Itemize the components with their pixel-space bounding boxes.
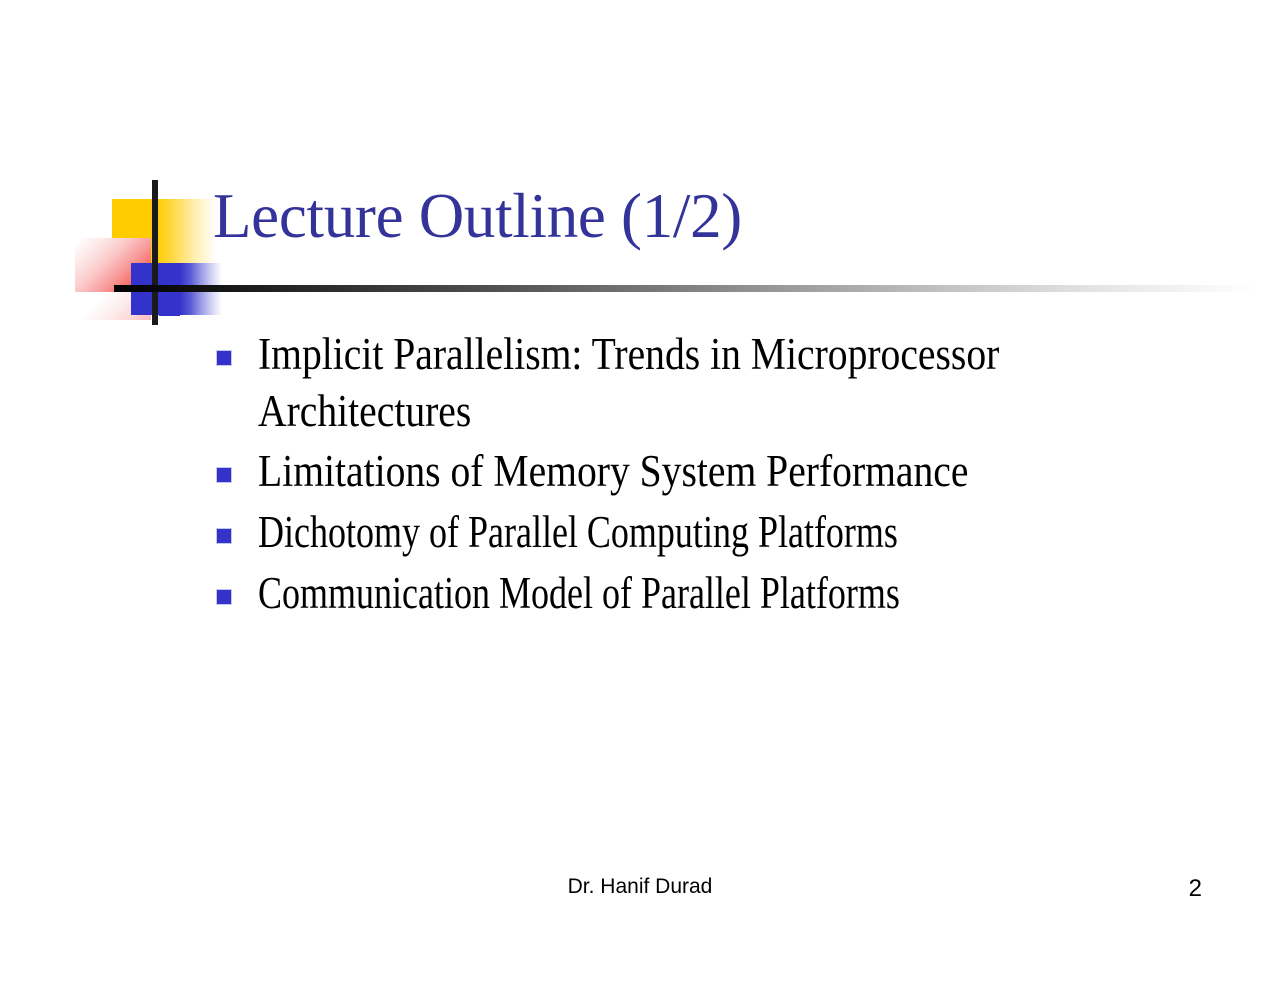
yellow-gradient-tail-icon [156, 199, 216, 263]
yellow-square-icon [112, 199, 156, 263]
blue-square-icon [131, 263, 180, 315]
outline-bullet-list: Implicit Parallelism: Trends in Micropro… [216, 326, 1226, 625]
horizontal-rule-icon [114, 285, 1254, 292]
bullet-text: Communication Model of Parallel Platform… [258, 565, 1032, 622]
list-item: Dichotomy of Parallel Computing Platform… [216, 504, 1226, 561]
bullet-text: Implicit Parallelism: Trends in Micropro… [258, 326, 1110, 439]
red-gradient-tail-icon [75, 292, 151, 320]
red-square-icon [75, 238, 151, 292]
bullet-square-icon [216, 350, 232, 366]
footer-author: Dr. Hanif Durad [0, 875, 1280, 899]
bullet-square-icon [216, 467, 232, 483]
blue-gradient-tail-icon [180, 263, 222, 315]
bullet-square-icon [216, 589, 232, 605]
slide: Lecture Outline (1/2) Implicit Paralleli… [0, 0, 1280, 989]
header-ornament-graphic [0, 0, 1280, 340]
bullet-text: Dichotomy of Parallel Computing Platform… [258, 504, 1032, 561]
vertical-rule-icon [152, 180, 158, 325]
page-number: 2 [1189, 875, 1202, 903]
blue-square-foot-icon [159, 290, 180, 316]
slide-footer: Dr. Hanif Durad 2 [0, 875, 1280, 915]
list-item: Limitations of Memory System Performance [216, 443, 1226, 500]
page-title: Lecture Outline (1/2) [213, 183, 742, 249]
bullet-square-icon [216, 528, 232, 544]
bullet-text: Limitations of Memory System Performance [258, 443, 1110, 500]
list-item: Communication Model of Parallel Platform… [216, 565, 1226, 622]
list-item: Implicit Parallelism: Trends in Micropro… [216, 326, 1226, 439]
